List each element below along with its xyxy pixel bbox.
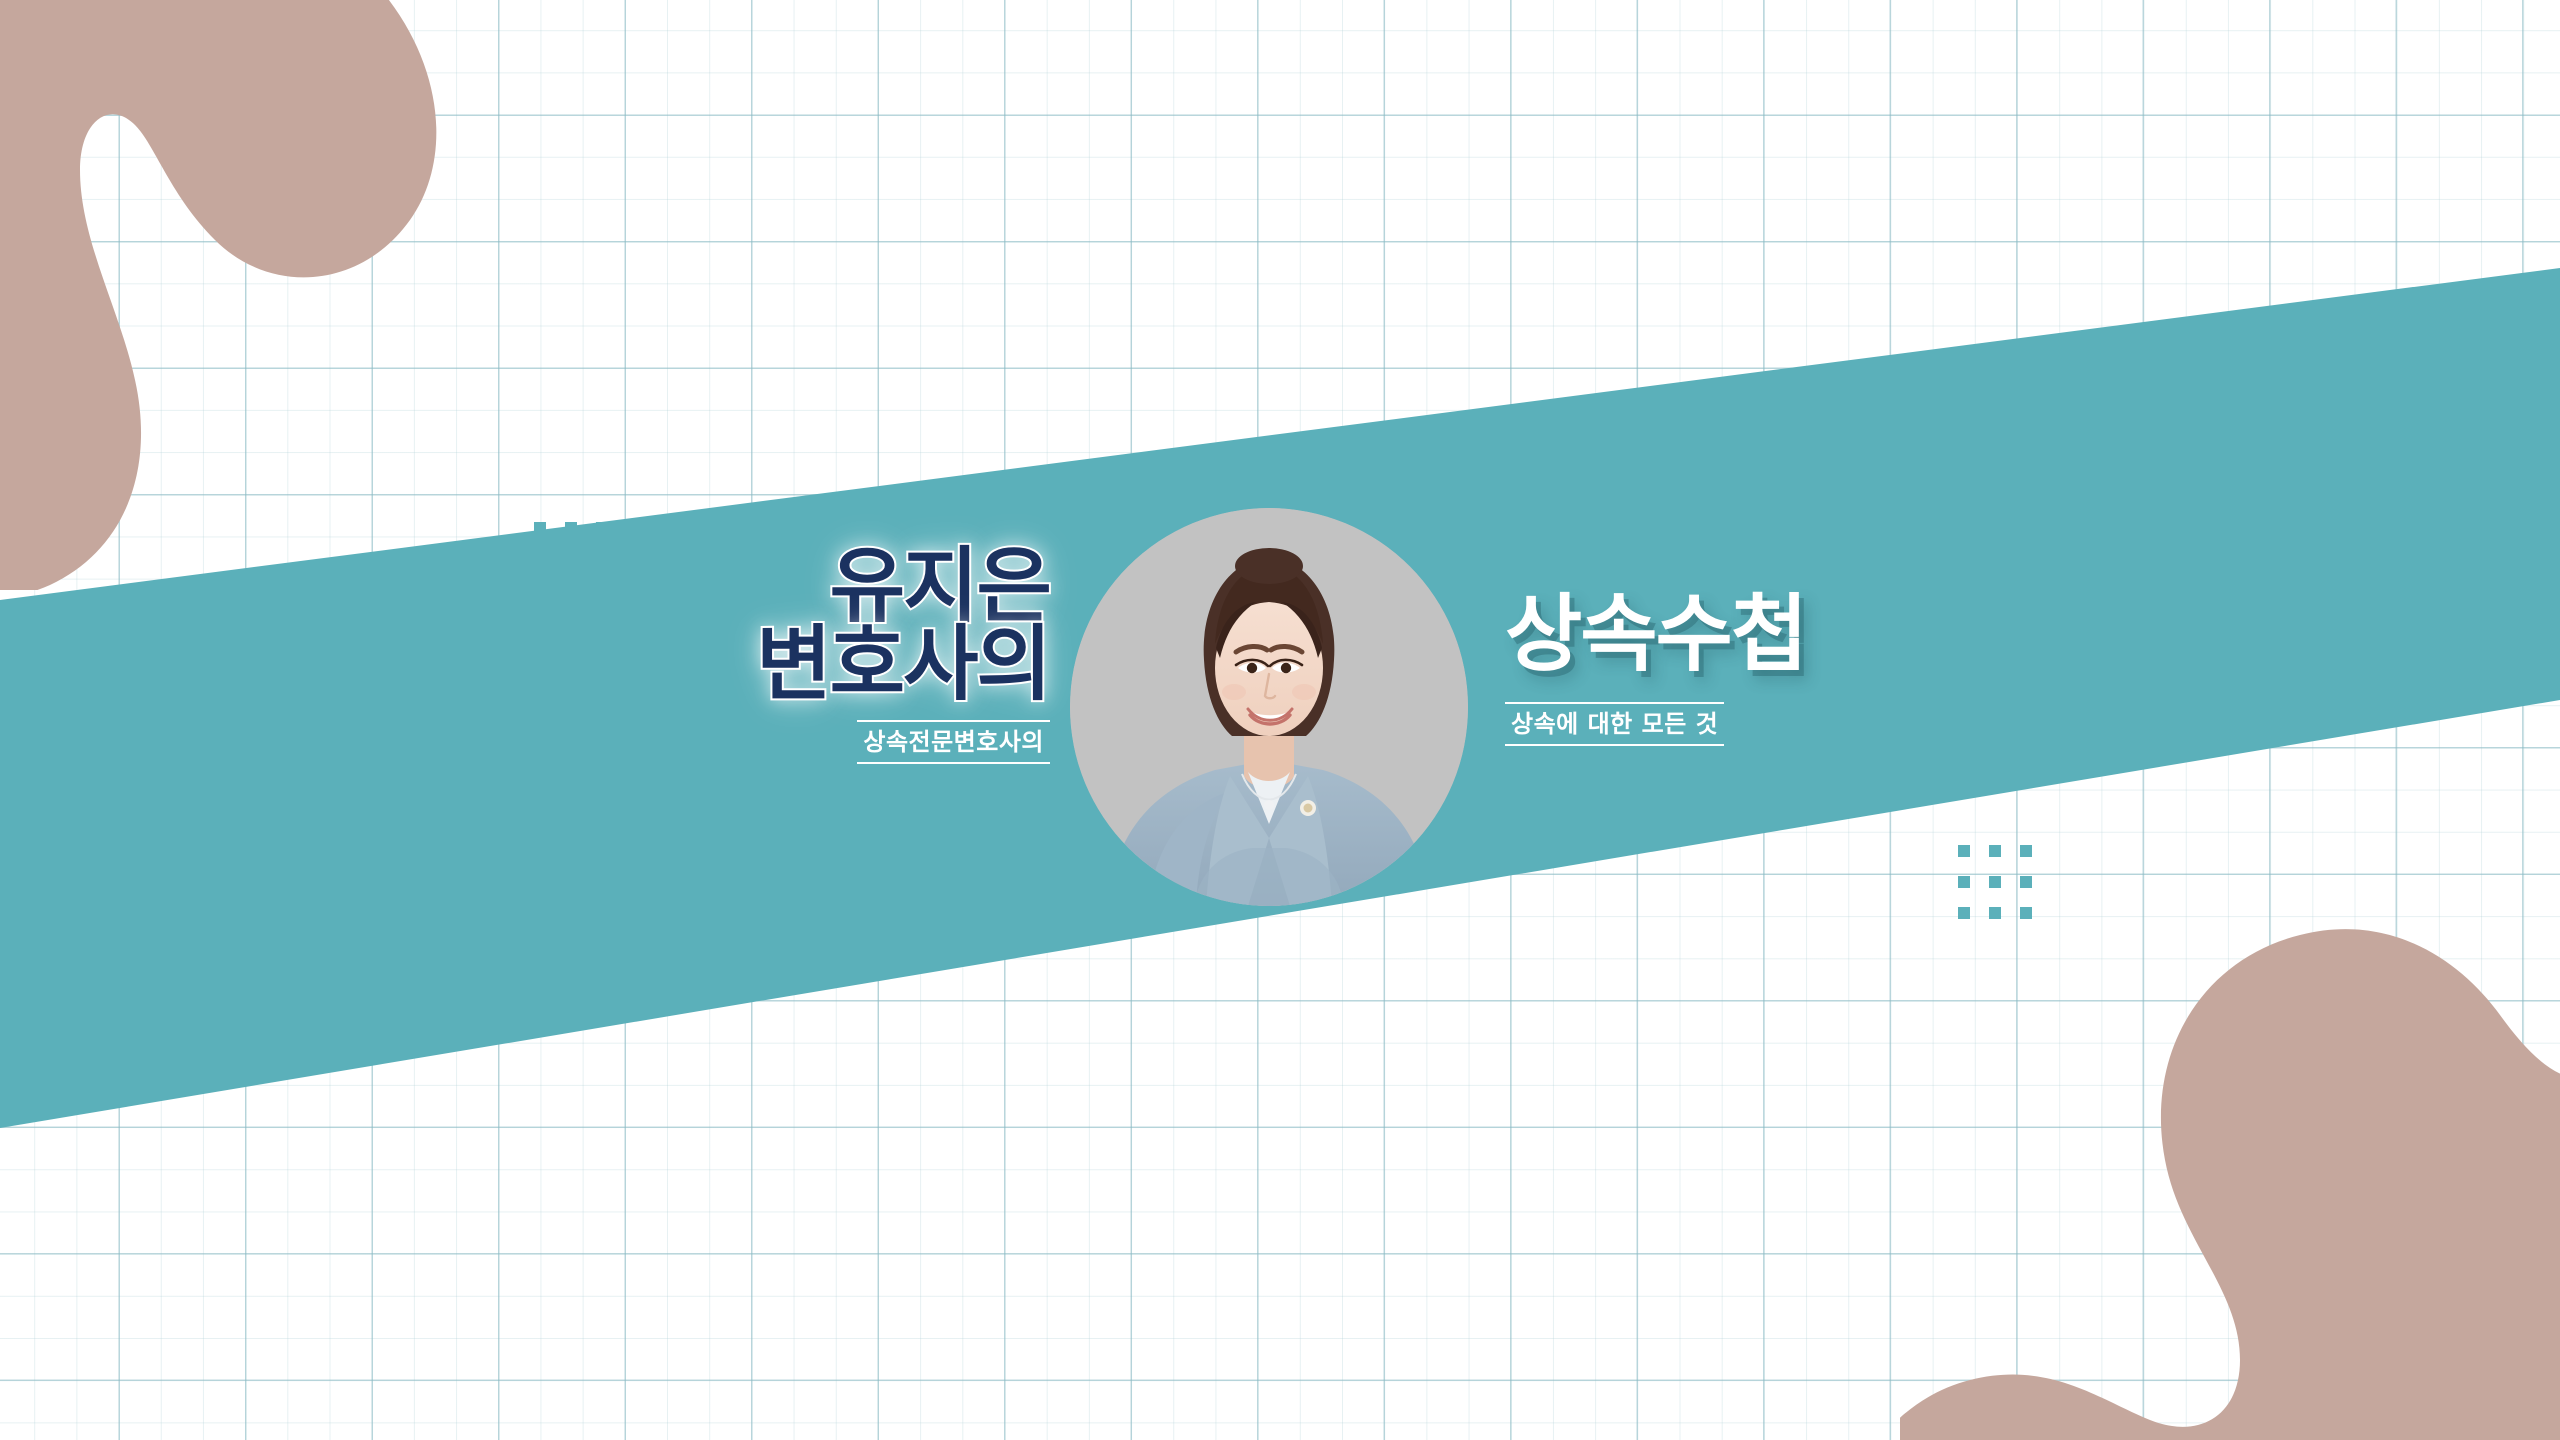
lawyer-name-line2: 변호사의 [620,626,1050,704]
avatar [1070,508,1468,906]
dot [1989,876,2001,888]
left-subtitle-rule: 상속전문변호사의 [857,720,1050,764]
show-title: 상속수첩 [1505,592,1935,676]
channel-art-canvas: 유지은 변호사의 상속전문변호사의 [0,0,2560,1440]
lawyer-name-title: 유지은 변호사의 [620,548,1050,704]
left-subtitle-text: 상속전문변호사의 [863,730,1044,755]
dot [1989,907,2001,919]
right-subtitle-rule: 상속에 대한 모든 것 [1505,702,1724,746]
dot [565,553,577,565]
dot [1958,876,1970,888]
dot [2020,876,2032,888]
dot [1989,845,2001,857]
dot [534,553,546,565]
left-title-block: 유지은 변호사의 상속전문변호사의 [620,548,1050,764]
dot [534,522,546,534]
dot [596,522,608,534]
dot [565,522,577,534]
dot [565,584,577,596]
dot [534,584,546,596]
right-subtitle-text: 상속에 대한 모든 것 [1511,712,1718,737]
dot [1958,845,1970,857]
dot [2020,845,2032,857]
dot [1958,907,1970,919]
dot [2020,907,2032,919]
dot-grid-right-icon [1958,845,2032,919]
dot [596,553,608,565]
right-title-block: 상속수첩 상속에 대한 모든 것 [1505,592,1935,746]
dot [596,584,608,596]
dot-grid-left-icon [534,522,608,596]
